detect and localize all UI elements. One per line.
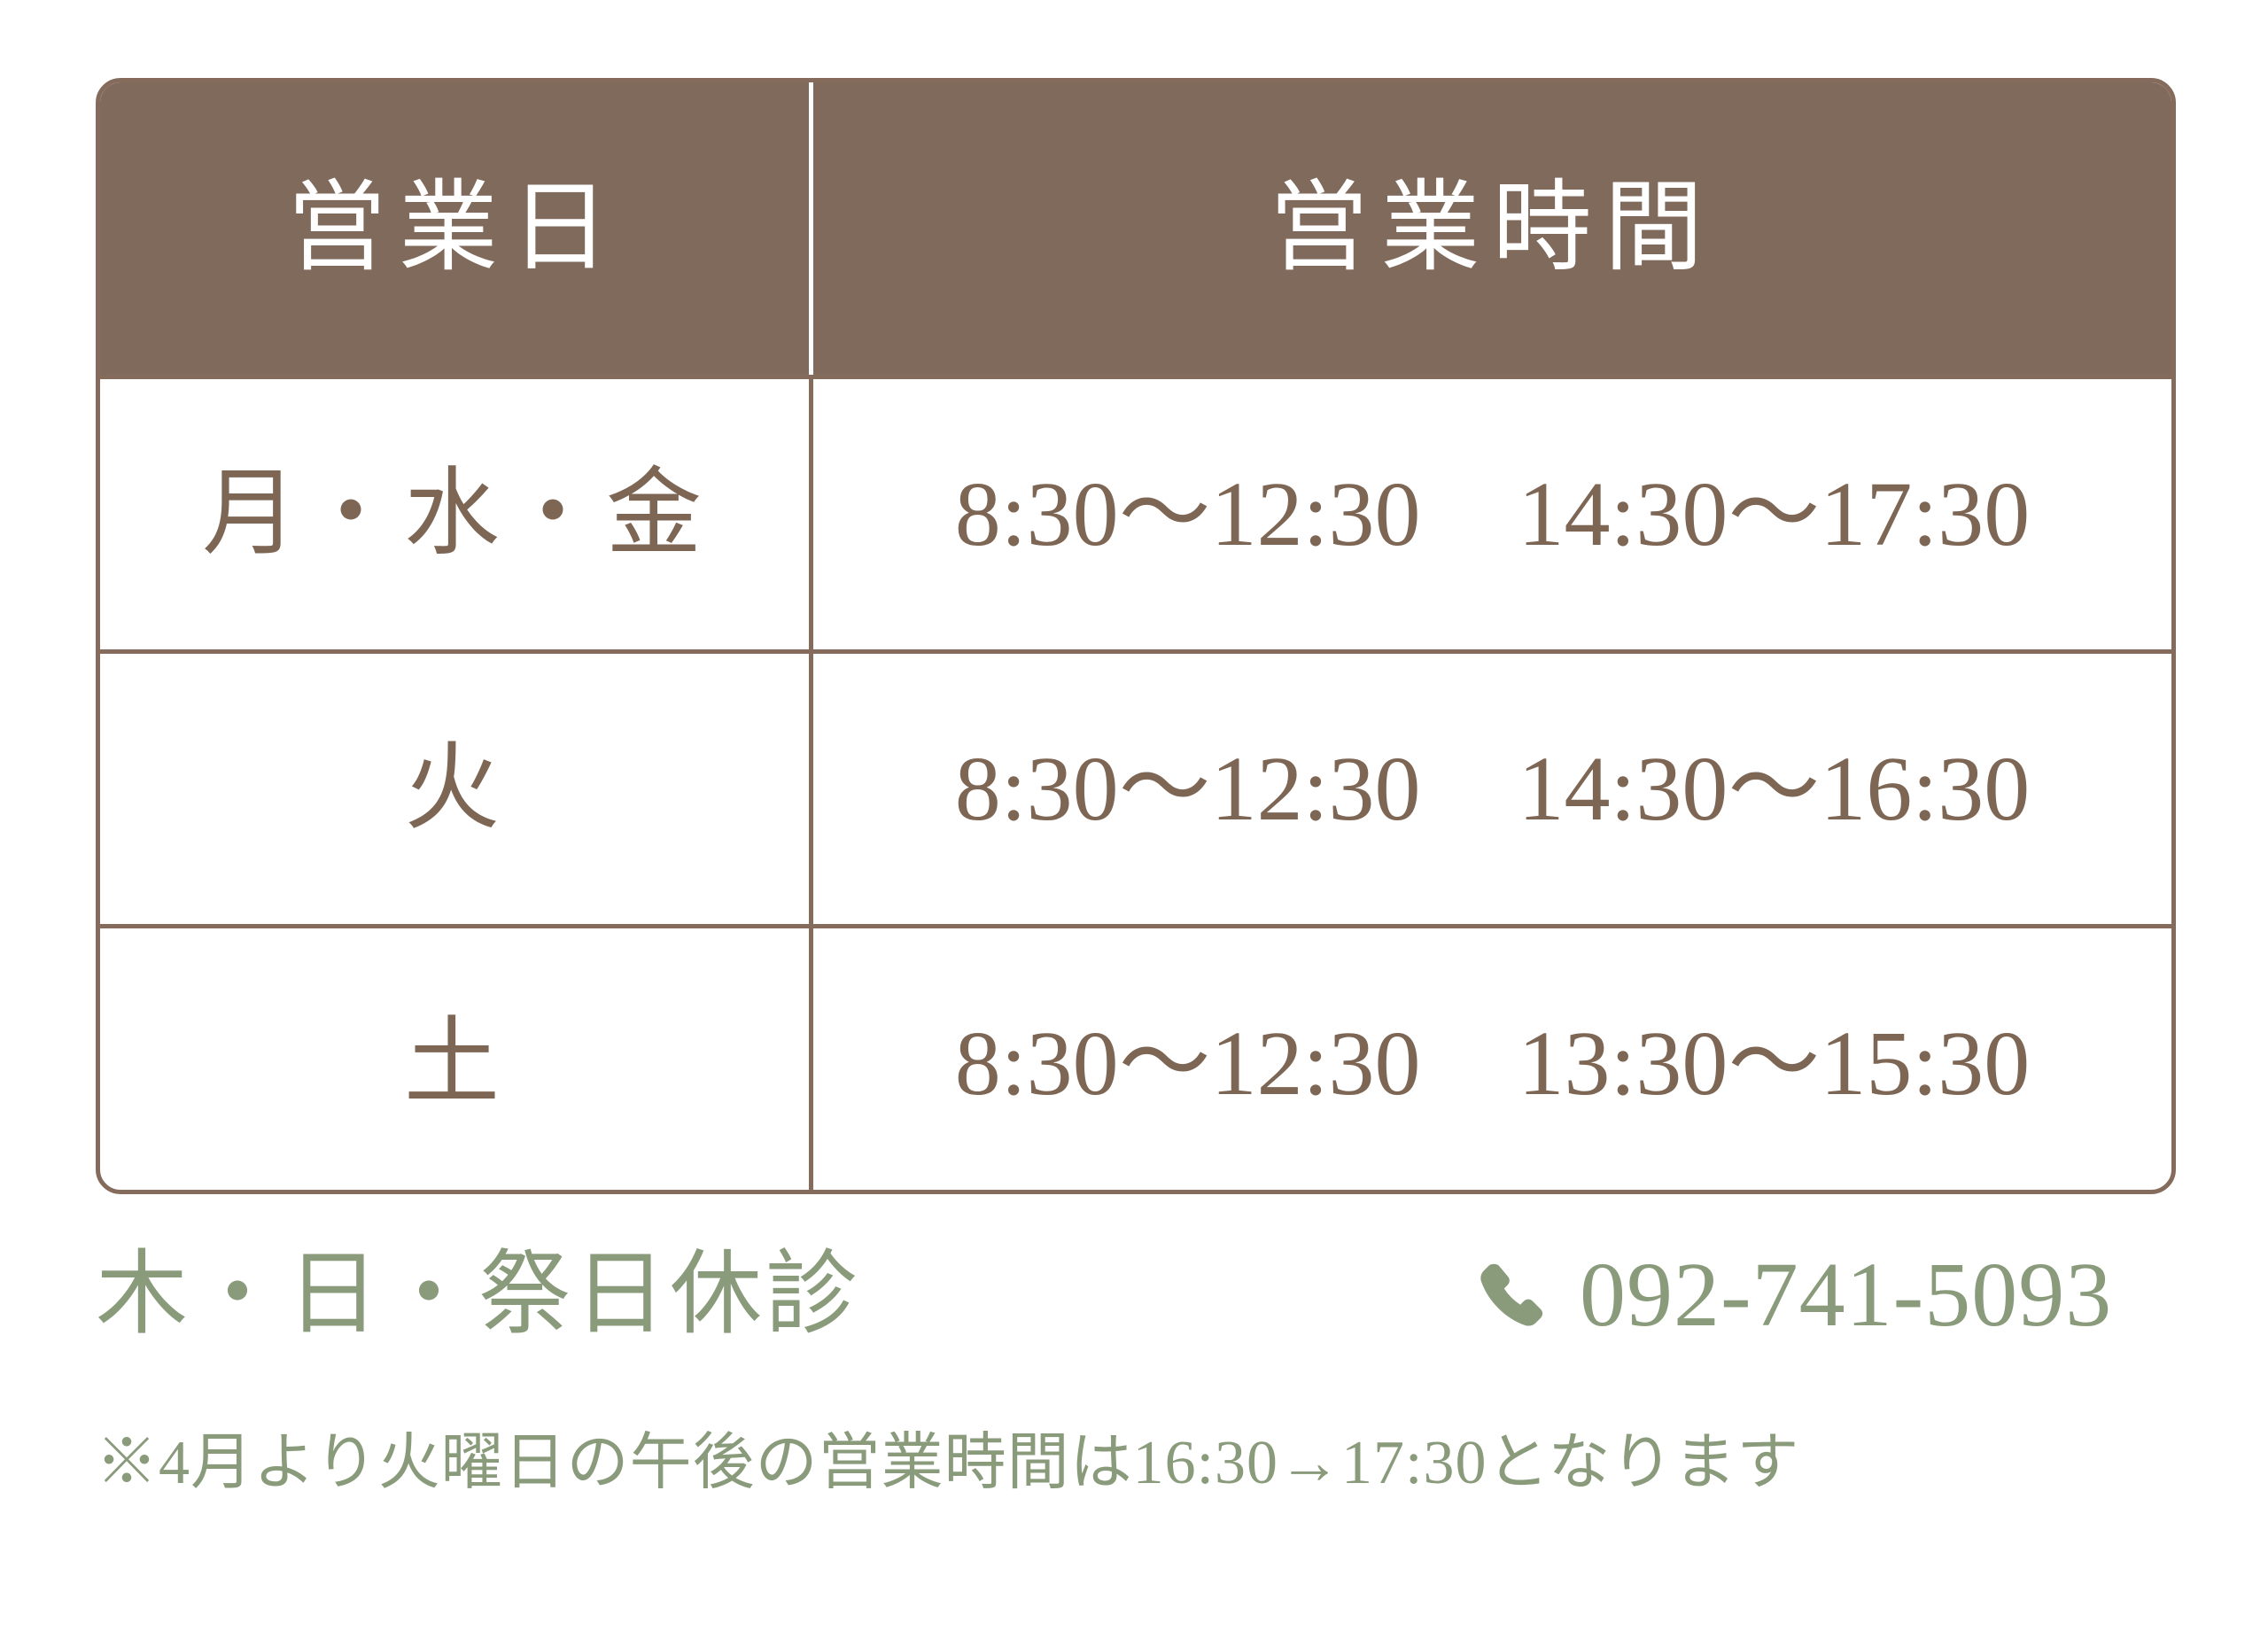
day-label: 月・水・金 [202,467,707,563]
time-afternoon: 13:30〜15:30 [1518,1018,2031,1110]
phone-number[interactable]: 092-741-5093 [1580,1240,2112,1351]
row-day-cell: 土 [100,928,809,1194]
row-day-cell: 火 [100,654,809,924]
header-time-label: 営業時間 [1270,179,1716,278]
time-range-group: 8:30〜12:30 13:30〜15:30 [955,1018,2031,1110]
header-cell-time: 営業時間 [809,82,2171,375]
time-morning: 8:30〜12:30 [955,1018,1421,1110]
time-range-group: 8:30〜12:30 14:30〜17:30 [955,469,2031,561]
schedule-change-note: ※4月より火曜日の午後の営業時間は16:30→17:30となります [96,1425,1799,1502]
row-time-cell: 8:30〜12:30 14:30〜17:30 [809,379,2171,649]
time-range-group: 8:30〜12:30 14:30〜16:30 [955,743,2031,835]
table-row: 火 8:30〜12:30 14:30〜16:30 [100,649,2171,924]
footer-main-row: 木・日・祭日休診 092-741-5093 [96,1240,2186,1373]
clinic-hours-card: 営業日 営業時間 月・水・金 8:30〜12:30 14:30〜17:30 火 [0,0,2268,1646]
time-afternoon: 14:30〜17:30 [1518,469,2031,561]
time-morning: 8:30〜12:30 [955,743,1421,835]
business-hours-table: 営業日 営業時間 月・水・金 8:30〜12:30 14:30〜17:30 火 [96,78,2176,1194]
time-afternoon: 14:30〜16:30 [1518,743,2031,835]
day-label: 火 [404,741,505,837]
table-header-row: 営業日 営業時間 [100,82,2171,375]
table-row: 月・水・金 8:30〜12:30 14:30〜17:30 [100,375,2171,649]
day-label: 土 [404,1016,505,1112]
time-morning: 8:30〜12:30 [955,469,1421,561]
row-day-cell: 月・水・金 [100,379,809,649]
row-time-cell: 8:30〜12:30 13:30〜15:30 [809,928,2171,1194]
phone-block[interactable]: 092-741-5093 [1473,1240,2112,1351]
phone-icon [1473,1257,1550,1333]
closed-days-label: 木・日・祭日休診 [96,1240,861,1351]
header-cell-day: 営業日 [100,82,809,375]
card-footer: 木・日・祭日休診 092-741-5093 ※4月より火曜日の午後の営業時間は1… [96,1240,2186,1373]
header-day-label: 営業日 [287,179,622,278]
table-row: 土 8:30〜12:30 13:30〜15:30 [100,924,2171,1194]
row-time-cell: 8:30〜12:30 14:30〜16:30 [809,654,2171,924]
